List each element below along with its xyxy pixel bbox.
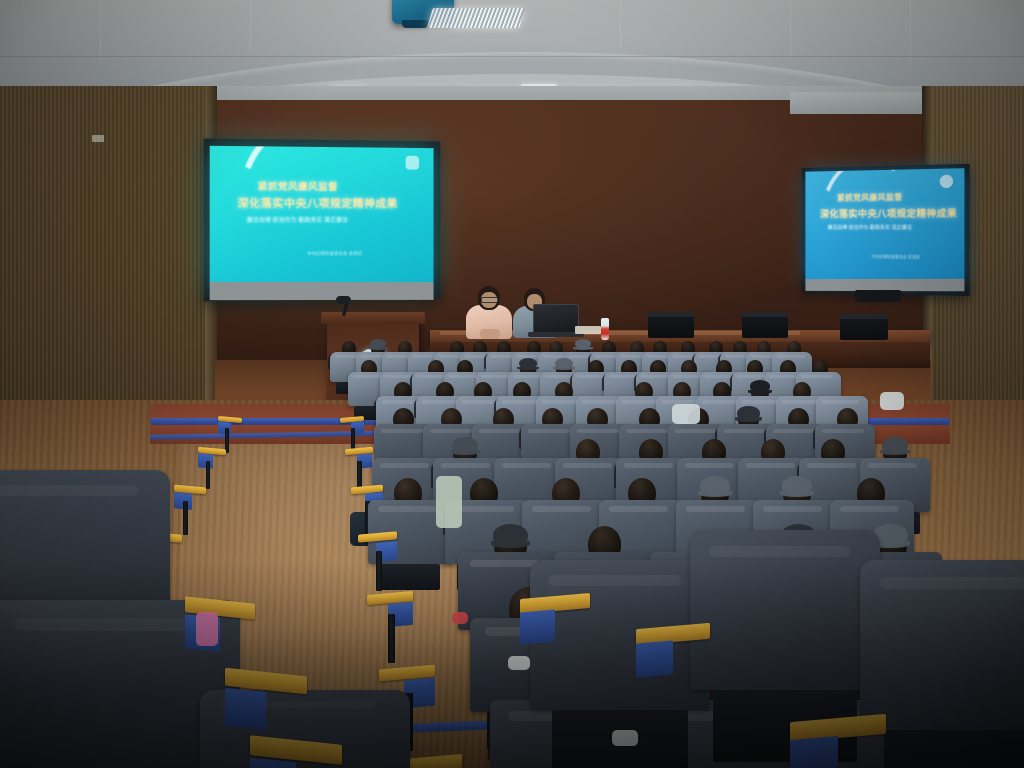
seat-cover-fold	[502, 463, 551, 468]
seat-cover-fold	[380, 463, 429, 468]
seat-cover-fold	[381, 429, 423, 433]
clothing-accent	[508, 656, 530, 670]
gooseneck-microphone-icon	[336, 296, 351, 304]
seat-pedestal-leg	[388, 614, 395, 662]
slide-logo	[940, 175, 953, 189]
side-slide-title-line-2: 深化落实中央八项规定精神成果	[820, 205, 957, 220]
seat-cover-fold	[15, 618, 200, 631]
seat-cover-fold	[840, 506, 899, 512]
seat-cover-fold	[470, 560, 540, 567]
armrest-side-panel	[225, 688, 266, 730]
armrest-side-panel	[790, 736, 838, 768]
seat-cover-fold	[807, 463, 856, 468]
stage-chair-top	[742, 312, 788, 317]
seat-cover-fold	[542, 400, 578, 404]
seat-cover-fold	[822, 429, 864, 433]
upper-wall-band-right	[790, 92, 940, 114]
seat-cover-fold	[479, 429, 521, 433]
secondary-projection-screen: 紧抓党风廉风监督 深化落实中央八项规定精神成果 廉洁自律 担当作为 勤政务实 清…	[805, 168, 964, 285]
main-slide-title-line-1: 紧抓党风廉风监督	[258, 179, 338, 193]
cap-brim	[780, 491, 814, 497]
seat-pedestal-leg	[376, 551, 382, 591]
podium-top	[321, 312, 425, 324]
ceiling-seam	[250, 0, 251, 52]
main-screen-base	[210, 282, 434, 300]
cap-brim	[735, 417, 762, 422]
stage-chair	[648, 316, 694, 338]
seat-cover-fold	[455, 506, 514, 512]
seat-cover-fold	[675, 429, 717, 433]
stage-chair	[742, 316, 788, 338]
water-bottle	[601, 318, 609, 340]
slide-logo	[406, 156, 420, 170]
seat-cover-fold	[773, 429, 815, 433]
seat-cover-fold	[724, 429, 766, 433]
clothing-accent	[196, 612, 218, 646]
seat-cover-fold	[548, 575, 681, 586]
seat-pedestal-leg	[183, 501, 188, 534]
ceiling-seam	[100, 0, 101, 60]
seat-cover-fold	[709, 546, 850, 557]
ceiling-air-vent	[427, 8, 525, 28]
side-slide-title-line-1: 紧抓党风廉风监督	[837, 192, 903, 204]
seat-cover-fold	[746, 463, 795, 468]
seat-cover-fold	[532, 506, 591, 512]
side-slide-subtitle: 廉洁自律 担当作为 勤政务实 清正廉洁	[828, 224, 912, 231]
armrest-side-panel	[520, 609, 555, 644]
seat-cover-fold	[577, 429, 619, 433]
seat-cover-fold	[626, 429, 668, 433]
seat-cover-fold	[0, 485, 138, 496]
seat-cover-fold	[880, 577, 1024, 589]
clothing-accent	[612, 730, 638, 746]
clothing-accent	[436, 476, 462, 528]
seat-pedestal-leg	[357, 461, 361, 490]
speaker-left-glasses	[481, 297, 499, 303]
seat-cover-fold	[624, 463, 673, 468]
speaker-left-hands	[480, 329, 500, 339]
seat-cover-fold	[742, 400, 778, 404]
seat-cover-fold	[430, 429, 472, 433]
seat-cover-fold	[801, 375, 833, 378]
seat-cover-fold	[686, 506, 745, 512]
seat-cover-fold	[777, 355, 805, 358]
side-slide-footer: 中共纪律检查委员会 宣讲团	[871, 254, 919, 261]
projector-lens	[402, 20, 428, 28]
cap-brim	[748, 390, 772, 394]
seat-cover-fold	[622, 400, 658, 404]
wall-mounted-fixture	[855, 290, 901, 302]
ceiling-seam	[620, 0, 621, 48]
seat-cover-fold	[763, 506, 822, 512]
ceiling-seam	[0, 56, 1024, 57]
seat-cover-fold	[822, 400, 858, 404]
seat-cover-fold	[441, 463, 490, 468]
main-slide-footer: 中共纪律检查委员会 宣讲团	[307, 251, 362, 257]
seat-base	[380, 564, 440, 590]
seat-pedestal-leg	[206, 461, 210, 490]
seat-cover-fold	[502, 400, 538, 404]
auditorium-photo: 紧抓党风廉风监督 深化落实中央八项规定精神成果 廉洁自律 担当作为 勤政务实 清…	[0, 0, 1024, 768]
seat-cover-fold	[609, 506, 668, 512]
armrest-side-panel	[636, 640, 673, 677]
ceiling-seam	[790, 0, 791, 58]
seat-cover-fold	[378, 506, 437, 512]
main-slide-subtitle: 廉洁自律 担当作为 勤政务实 清正廉洁	[247, 215, 348, 224]
seat-cover-fold	[563, 463, 612, 468]
wall-marking	[92, 135, 104, 142]
seat-cover-fold	[685, 463, 734, 468]
left-acoustic-wall	[0, 86, 215, 446]
papers	[575, 326, 601, 334]
clothing-accent	[880, 392, 904, 410]
stage-chair	[840, 318, 888, 340]
clothing-accent	[672, 404, 700, 424]
seat-cover-fold	[782, 400, 818, 404]
stage-chair-top	[840, 314, 888, 319]
seat-cover-fold	[868, 463, 917, 468]
main-projection-screen: 紧抓党风廉风监督 深化落实中央八项规定精神成果 廉洁自律 担当作为 勤政务实 清…	[210, 146, 434, 288]
main-slide-title-line-2: 深化落实中央八项规定精神成果	[237, 195, 397, 211]
seat-cover-fold	[702, 400, 738, 404]
stage-chair-top	[648, 312, 694, 317]
seat-cover-fold	[528, 429, 570, 433]
seat-cover-fold	[422, 400, 458, 404]
seat-base	[884, 730, 1024, 768]
seat-cover-fold	[582, 400, 618, 404]
cap-brim	[698, 491, 732, 497]
clothing-accent	[452, 612, 468, 624]
